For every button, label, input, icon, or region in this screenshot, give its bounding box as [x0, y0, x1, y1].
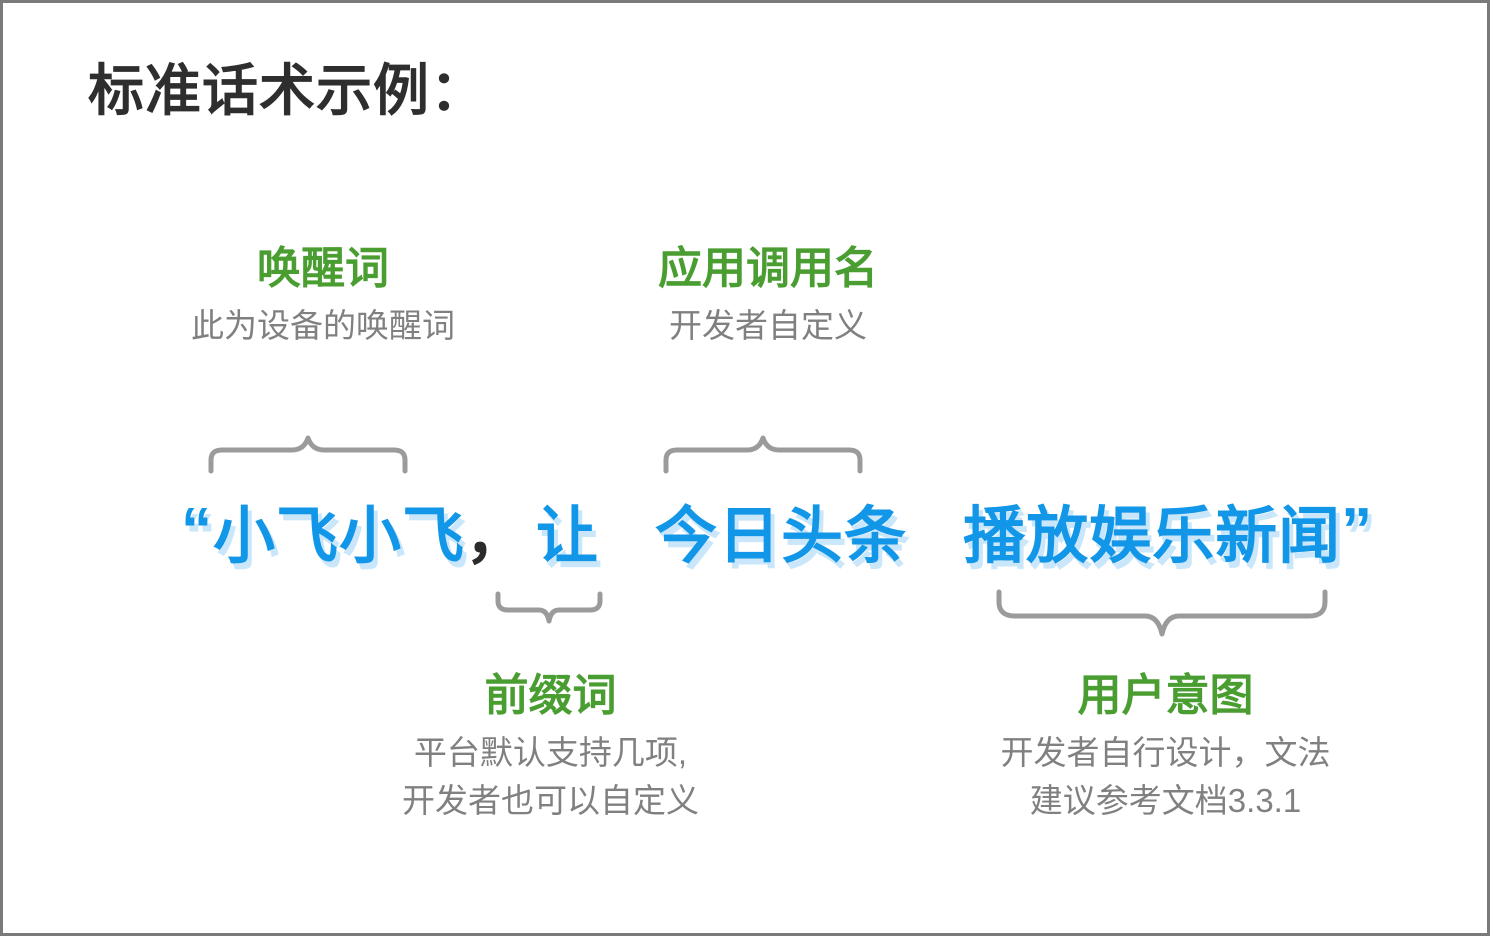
page-title: 标准话术示例：	[88, 59, 487, 123]
annotation-line: 开发者自行设计，文法	[938, 729, 1393, 777]
brace-down-user-intent	[995, 588, 1329, 648]
brace-up-app-invocation-name	[663, 418, 863, 474]
annotation-line: 平台默认支持几项,	[333, 729, 768, 777]
annotation-prefix-word-title: 前缀词	[333, 668, 768, 723]
annotation-user-intent: 用户意图 开发者自行设计，文法 建议参考文档3.3.1	[938, 668, 1393, 825]
utterance-segment-punctuation: ，	[465, 485, 528, 575]
annotation-wake-word-description: 此为设备的唤醒词	[123, 302, 523, 350]
annotation-wake-word-title: 唤醒词	[123, 241, 523, 296]
utterance-line: “ 小飞小飞 ， 让 今日头条 播放娱乐新闻 ”	[3, 485, 1487, 575]
annotation-prefix-word: 前缀词 平台默认支持几项, 开发者也可以自定义	[333, 668, 768, 825]
annotation-line: 此为设备的唤醒词	[123, 302, 523, 350]
annotation-app-invocation-name: 应用调用名 开发者自定义	[603, 241, 933, 350]
brace-up-wake-word	[208, 418, 408, 474]
utterance-close-quote: ”	[1341, 495, 1373, 566]
annotation-user-intent-title: 用户意图	[938, 668, 1393, 723]
utterance-segment-wake-word: 小飞小飞	[213, 485, 465, 575]
annotation-line: 建议参考文档3.3.1	[938, 777, 1393, 825]
utterance-segment-app-invocation-name: 今日头条	[655, 485, 907, 575]
utterance-segment-user-intent: 播放娱乐新闻	[963, 485, 1341, 575]
annotation-wake-word: 唤醒词 此为设备的唤醒词	[123, 241, 523, 350]
annotation-user-intent-description: 开发者自行设计，文法 建议参考文档3.3.1	[938, 729, 1393, 825]
annotation-app-invocation-name-title: 应用调用名	[603, 241, 933, 296]
annotation-line: 开发者也可以自定义	[333, 777, 768, 825]
annotation-prefix-word-description: 平台默认支持几项, 开发者也可以自定义	[333, 729, 768, 825]
slide-canvas: 标准话术示例： 唤醒词 此为设备的唤醒词 应用调用名 开发者自定义 “ 小飞小飞…	[0, 0, 1490, 936]
utterance-open-quote: “	[181, 495, 213, 566]
utterance-segment-prefix-word: 让	[536, 485, 599, 575]
annotation-line: 开发者自定义	[603, 302, 933, 350]
brace-down-prefix-word	[495, 591, 603, 635]
annotation-app-invocation-name-description: 开发者自定义	[603, 302, 933, 350]
